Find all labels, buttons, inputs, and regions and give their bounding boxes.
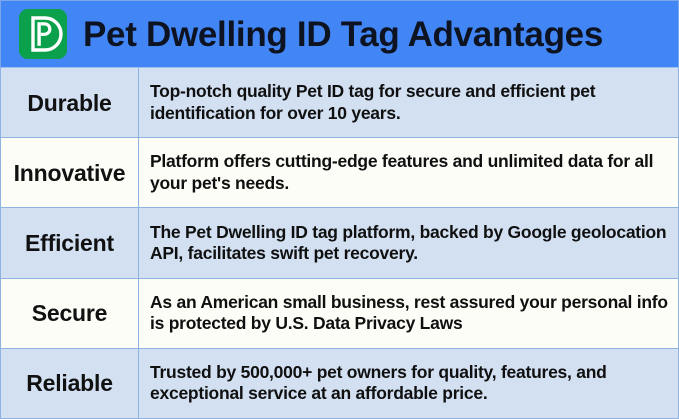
advantage-label: Durable	[27, 91, 111, 115]
advantage-label: Efficient	[25, 231, 114, 255]
advantage-label: Reliable	[26, 371, 113, 395]
table-row: Innovative Platform offers cutting-edge …	[1, 138, 678, 208]
advantage-description-cell: Top-notch quality Pet ID tag for secure …	[139, 68, 678, 137]
advantage-description: Top-notch quality Pet ID tag for secure …	[150, 81, 670, 124]
pet-dwelling-logo-icon	[19, 9, 67, 59]
advantage-description: Platform offers cutting-edge features an…	[150, 151, 670, 194]
advantage-label-cell: Secure	[1, 279, 139, 348]
table-row: Secure As an American small business, re…	[1, 279, 678, 349]
advantages-table: Durable Top-notch quality Pet ID tag for…	[0, 68, 679, 419]
header-banner: Pet Dwelling ID Tag Advantages	[0, 0, 679, 68]
table-row: Durable Top-notch quality Pet ID tag for…	[1, 68, 678, 138]
advantage-description-cell: Trusted by 500,000+ pet owners for quali…	[139, 349, 678, 418]
advantage-description: Trusted by 500,000+ pet owners for quali…	[150, 362, 670, 405]
advantage-label-cell: Innovative	[1, 138, 139, 207]
advantage-label-cell: Durable	[1, 68, 139, 137]
advantage-description: The Pet Dwelling ID tag platform, backed…	[150, 222, 670, 265]
table-row: Efficient The Pet Dwelling ID tag platfo…	[1, 208, 678, 278]
advantage-label: Innovative	[14, 161, 126, 185]
advantage-description-cell: The Pet Dwelling ID tag platform, backed…	[139, 208, 678, 277]
page-title: Pet Dwelling ID Tag Advantages	[83, 17, 603, 52]
advantage-label-cell: Efficient	[1, 208, 139, 277]
advantage-label: Secure	[32, 301, 108, 325]
table-row: Reliable Trusted by 500,000+ pet owners …	[1, 349, 678, 418]
advantage-description-cell: Platform offers cutting-edge features an…	[139, 138, 678, 207]
advantage-label-cell: Reliable	[1, 349, 139, 418]
advantage-description-cell: As an American small business, rest assu…	[139, 279, 678, 348]
advantage-description: As an American small business, rest assu…	[150, 292, 670, 335]
advantages-infographic: Pet Dwelling ID Tag Advantages Durable T…	[0, 0, 679, 419]
